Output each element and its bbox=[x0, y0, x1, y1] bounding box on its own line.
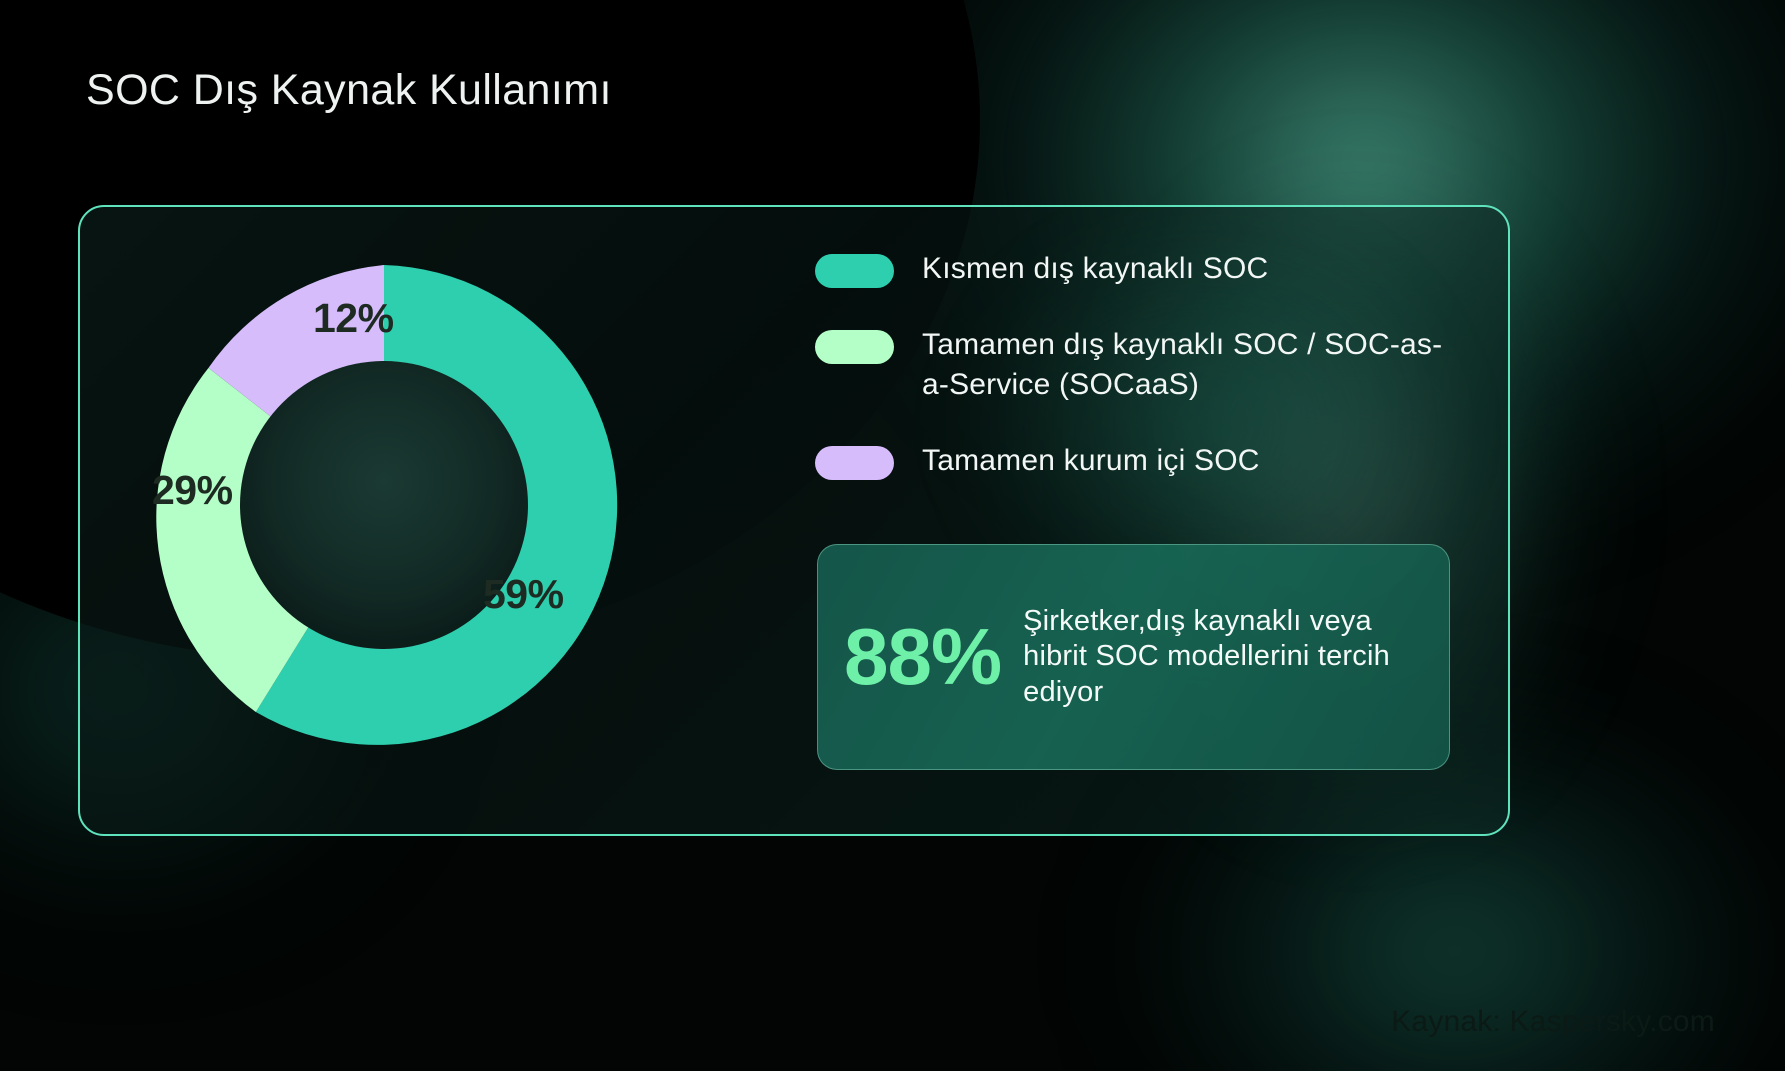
donut-chart: 12% 29% 59% bbox=[128, 249, 640, 761]
legend-item-fully-outsourced: Tamamen dış kaynaklı SOC / SOC-as-a-Serv… bbox=[815, 325, 1455, 406]
legend-label-fully-inhouse: Tamamen kurum içi SOC bbox=[922, 441, 1260, 482]
legend-swatch-icon-mint bbox=[815, 330, 894, 364]
page-title: SOC Dış Kaynak Kullanımı bbox=[86, 66, 612, 115]
legend-swatch-icon-teal bbox=[815, 254, 894, 288]
chart-legend: Kısmen dış kaynaklı SOC Tamamen dış kayn… bbox=[815, 249, 1455, 516]
infographic-canvas: SOC Dış Kaynak Kullanımı bbox=[0, 0, 1785, 1071]
legend-label-fully-outsourced: Tamamen dış kaynaklı SOC / SOC-as-a-Serv… bbox=[922, 325, 1455, 406]
donut-label-fully-inhouse: 12% bbox=[313, 295, 394, 342]
legend-item-partially-outsourced: Kısmen dış kaynaklı SOC bbox=[815, 249, 1455, 290]
donut-label-partially-outsourced: 59% bbox=[483, 571, 564, 618]
legend-item-fully-inhouse: Tamamen kurum içi SOC bbox=[815, 441, 1455, 482]
legend-swatch-icon-lavender bbox=[815, 446, 894, 480]
legend-label-partially-outsourced: Kısmen dış kaynaklı SOC bbox=[922, 249, 1268, 290]
chart-card: 12% 29% 59% Kısmen dış kaynaklı SOC Tama… bbox=[78, 205, 1510, 836]
callout-description: Şirketker,dış kaynaklı veya hibrit SOC m… bbox=[1023, 604, 1427, 710]
highlight-callout: 88% Şirketker,dış kaynaklı veya hibrit S… bbox=[817, 544, 1450, 770]
source-attribution: Kaynak: Kaspersky.com bbox=[1391, 1005, 1715, 1039]
donut-label-fully-outsourced: 29% bbox=[152, 467, 233, 514]
callout-percentage: 88% bbox=[844, 617, 1001, 697]
